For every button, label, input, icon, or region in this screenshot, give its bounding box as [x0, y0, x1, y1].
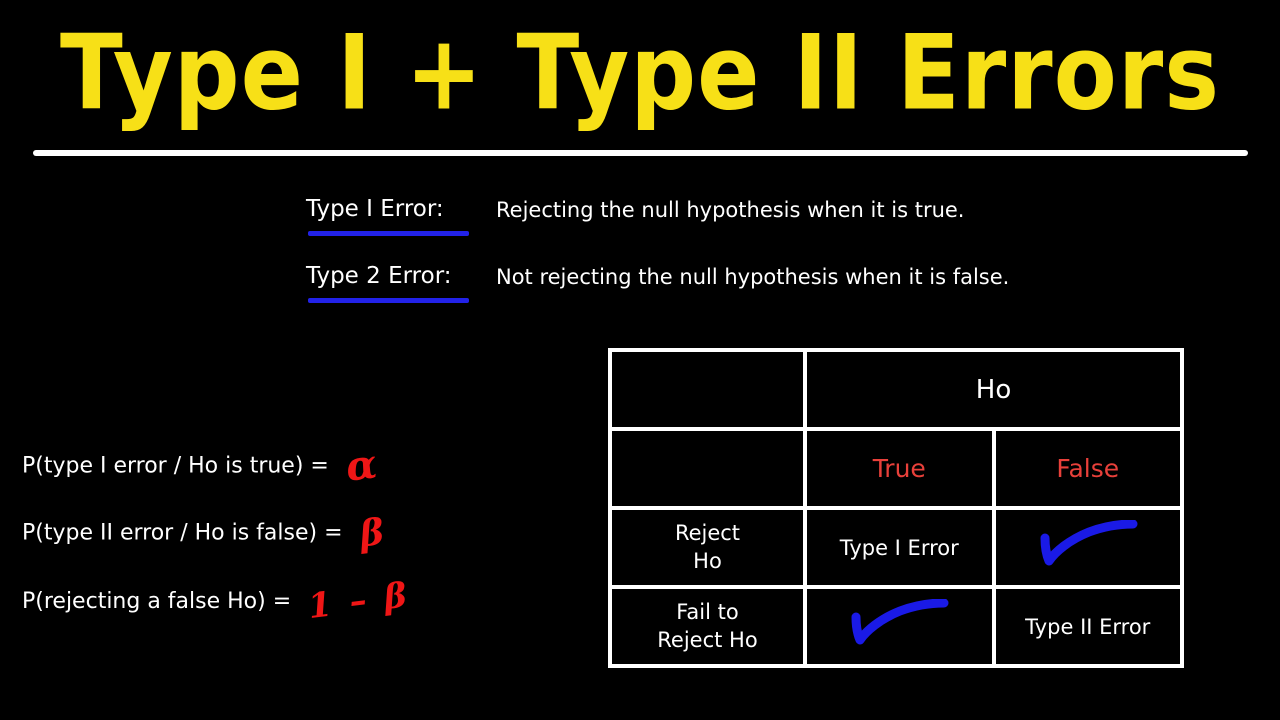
cell-fail-true [803, 589, 992, 664]
definition-underline [308, 298, 469, 303]
table-header-true: True [803, 431, 992, 506]
row-label-fail-to-reject-ho: Fail to Reject Ho [612, 589, 803, 664]
one-minus-beta-symbol: 1 – β [307, 580, 412, 623]
definitions-block: Type I Error: Rejecting the null hypothe… [306, 196, 1026, 330]
definition-underline [308, 231, 469, 236]
formula-row-power: P(rejecting a false Ho) = 1 – β [22, 586, 582, 655]
error-label-type-1: Type I Error [840, 536, 959, 560]
title-divider [33, 150, 1248, 156]
table-row-fail-to-reject-ho: Fail to Reject Ho Type II Error [612, 585, 1180, 664]
definition-term: Type 2 Error: [306, 263, 452, 289]
error-label-type-2: Type II Error [1025, 615, 1150, 639]
table-blank-cell [612, 431, 803, 506]
header-group-label: Ho [976, 375, 1011, 405]
state-label-true: True [873, 454, 926, 483]
row-label-reject-ho: Reject Ho [612, 510, 803, 585]
table-corner-cell [612, 352, 803, 427]
table-header-ho: Ho [803, 352, 1180, 427]
formula-row-alpha: P(type I error / Ho is true) = α [22, 448, 582, 517]
definition-term: Type I Error: [306, 196, 444, 222]
correct-decision-check-icon [844, 599, 954, 655]
row-label-text: Fail to Reject Ho [657, 599, 757, 654]
formula-block: P(type I error / Ho is true) = α P(type … [22, 448, 582, 655]
row-label-text: Reject Ho [675, 520, 740, 575]
table-header-false: False [992, 431, 1181, 506]
page-title: Type I + Type II Errors [0, 2, 1280, 145]
definition-text: Rejecting the null hypothesis when it is… [496, 198, 964, 222]
formula-expression: P(rejecting a false Ho) = [22, 589, 291, 614]
table-row-reject-ho: Reject Ho Type I Error [612, 506, 1180, 585]
correct-decision-check-icon [1033, 520, 1143, 576]
definition-row-type-2: Type 2 Error: Not rejecting the null hyp… [306, 263, 1026, 330]
cell-reject-true: Type I Error [803, 510, 992, 585]
formula-row-beta: P(type II error / Ho is false) = β [22, 517, 582, 586]
alpha-symbol: α [344, 446, 379, 485]
definition-text: Not rejecting the null hypothesis when i… [496, 265, 1009, 289]
decision-matrix-table: Ho True False Reject Ho Type I Error Fai… [608, 348, 1184, 668]
cell-reject-false [992, 510, 1181, 585]
formula-expression: P(type II error / Ho is false) = [22, 521, 343, 546]
cell-fail-false: Type II Error [992, 589, 1181, 664]
beta-symbol: β [358, 516, 386, 551]
table-row-header-group: Ho [612, 352, 1180, 427]
definition-row-type-1: Type I Error: Rejecting the null hypothe… [306, 196, 1026, 263]
formula-expression: P(type I error / Ho is true) = [22, 454, 329, 479]
table-row-states: True False [612, 427, 1180, 506]
state-label-false: False [1056, 454, 1119, 483]
